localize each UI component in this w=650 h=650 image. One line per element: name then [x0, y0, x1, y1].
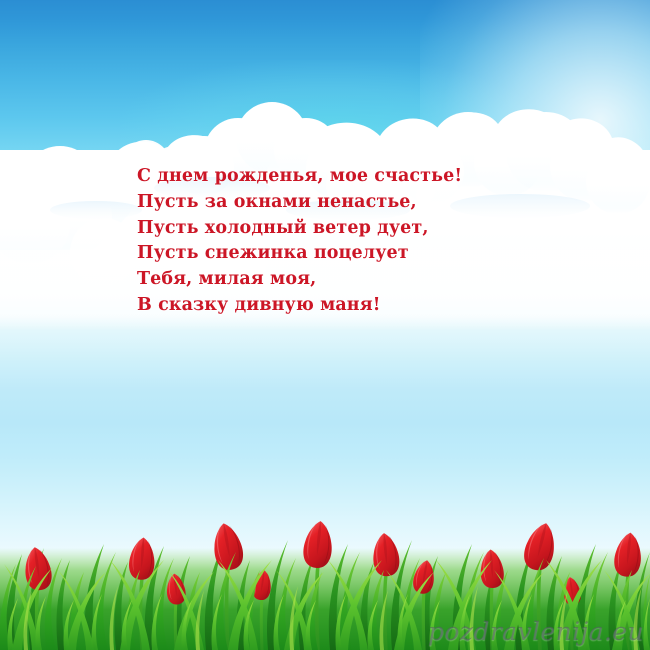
- verse-line: В сказку дивную маня!: [137, 293, 607, 319]
- verse-line: Тебя, милая моя,: [137, 267, 607, 293]
- verse-line: С днем рожденья, мое счастье!: [137, 164, 607, 190]
- verse-line: Пусть холодный ветер дует,: [137, 216, 607, 242]
- verse-line: Пусть за окнами ненастье,: [137, 190, 607, 216]
- sky-background: [0, 0, 650, 650]
- greeting-card: С днем рожденья, мое счастье! Пусть за о…: [0, 0, 650, 650]
- greeting-verse: С днем рожденья, мое счастье! Пусть за о…: [137, 164, 607, 319]
- verse-line: Пусть снежинка поцелует: [137, 241, 607, 267]
